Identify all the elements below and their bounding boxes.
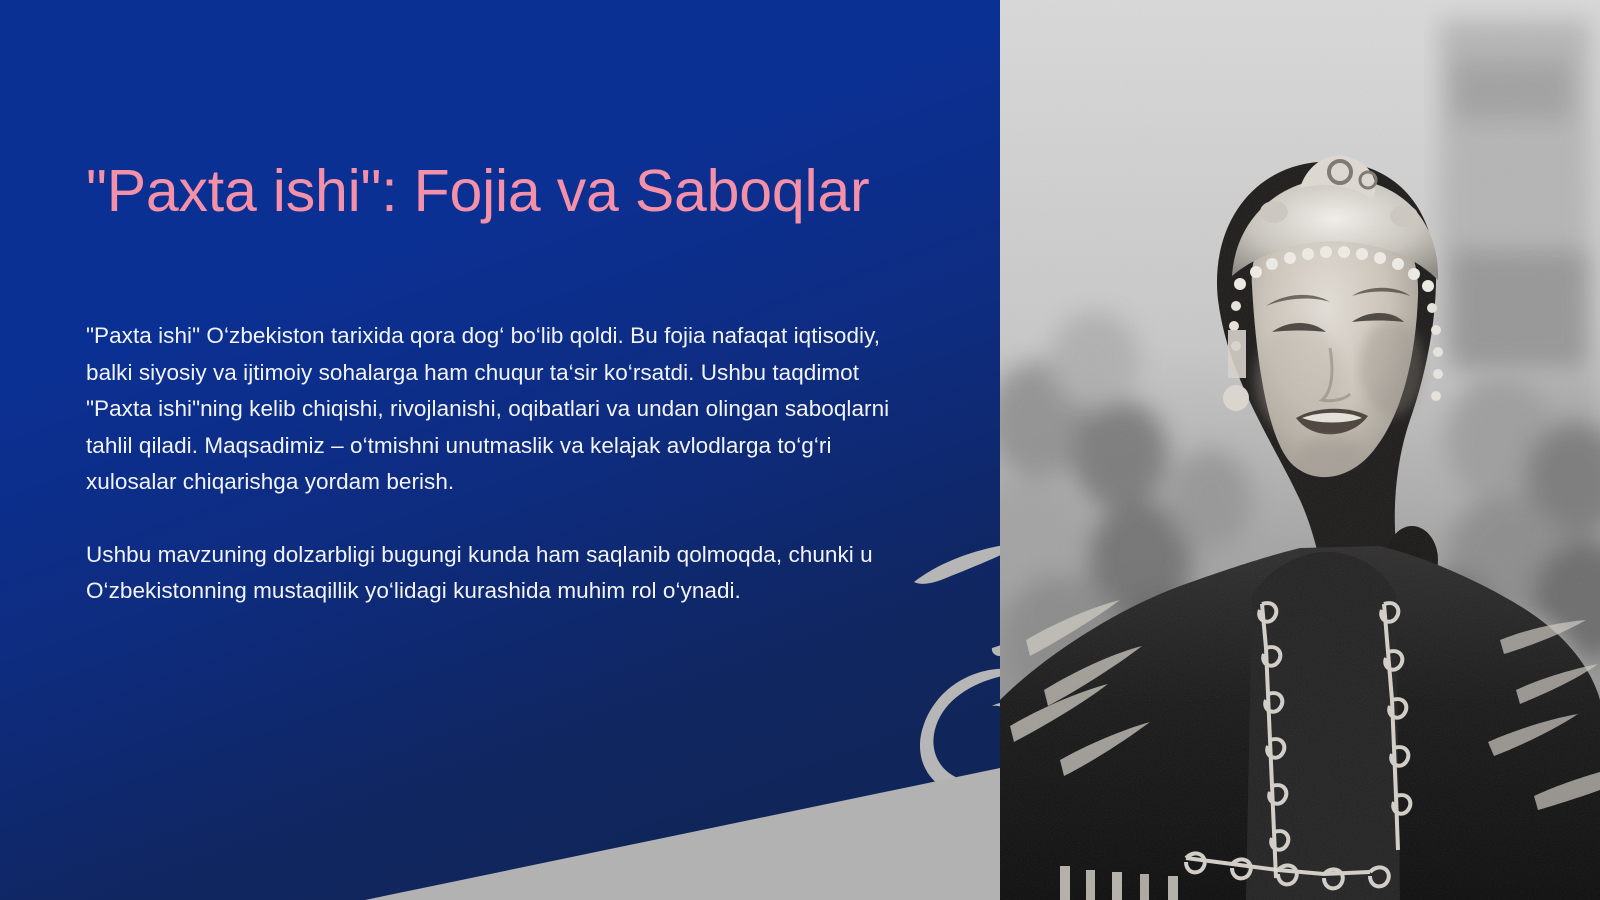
archival-photo: [1000, 0, 1600, 900]
page-title: "Paxta ishi": Fojia va Saboqlar: [86, 158, 946, 226]
blue-background-panel: "Paxta ishi": Fojia va Saboqlar "Paxta i…: [0, 0, 1000, 900]
body-paragraph-2: Ushbu mavzuning dolzarbligi bugungi kund…: [86, 537, 896, 610]
body-text-block: "Paxta ishi" O‘zbekiston tarixida qora d…: [86, 318, 896, 610]
presentation-slide: "Paxta ishi": Fojia va Saboqlar "Paxta i…: [0, 0, 1600, 900]
slide-content: "Paxta ishi": Fojia va Saboqlar "Paxta i…: [86, 0, 926, 900]
body-paragraph-1: "Paxta ishi" O‘zbekiston tarixida qora d…: [86, 318, 896, 501]
